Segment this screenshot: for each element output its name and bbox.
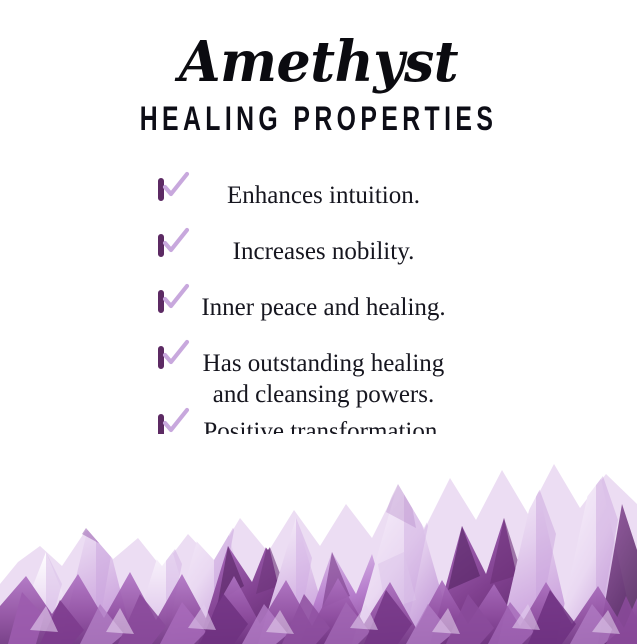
healing-properties-list: Enhances intuition. Increases nobility. (0, 181, 637, 463)
list-item-label: Increases nobility. (158, 237, 637, 268)
checkbox-checked-icon[interactable] (158, 293, 164, 311)
poster-header: Amethyst HEALING PROPERTIES (0, 0, 637, 132)
list-item: Enhances intuition. (0, 181, 637, 237)
list-item-label: Has outstanding healing and cleansing po… (158, 349, 637, 410)
list-item-label: Inner peace and healing. (158, 293, 637, 324)
list-item: Has outstanding healing and cleansing po… (0, 349, 637, 417)
checkbox-checked-icon[interactable] (158, 417, 164, 435)
list-item: Increases nobility. (0, 237, 637, 293)
checkbox-checked-icon[interactable] (158, 237, 164, 255)
amethyst-healing-properties-poster: Amethyst HEALING PROPERTIES Enhances int… (0, 0, 637, 644)
checkbox-checked-icon[interactable] (158, 349, 164, 367)
amethyst-crystal-cluster-image (0, 434, 637, 644)
checkbox-checked-icon[interactable] (158, 181, 164, 199)
page-subtitle: HEALING PROPERTIES (64, 101, 574, 136)
list-item: Inner peace and healing. (0, 293, 637, 349)
page-title: Amethyst (13, 34, 625, 90)
list-item-label: Enhances intuition. (158, 181, 637, 212)
